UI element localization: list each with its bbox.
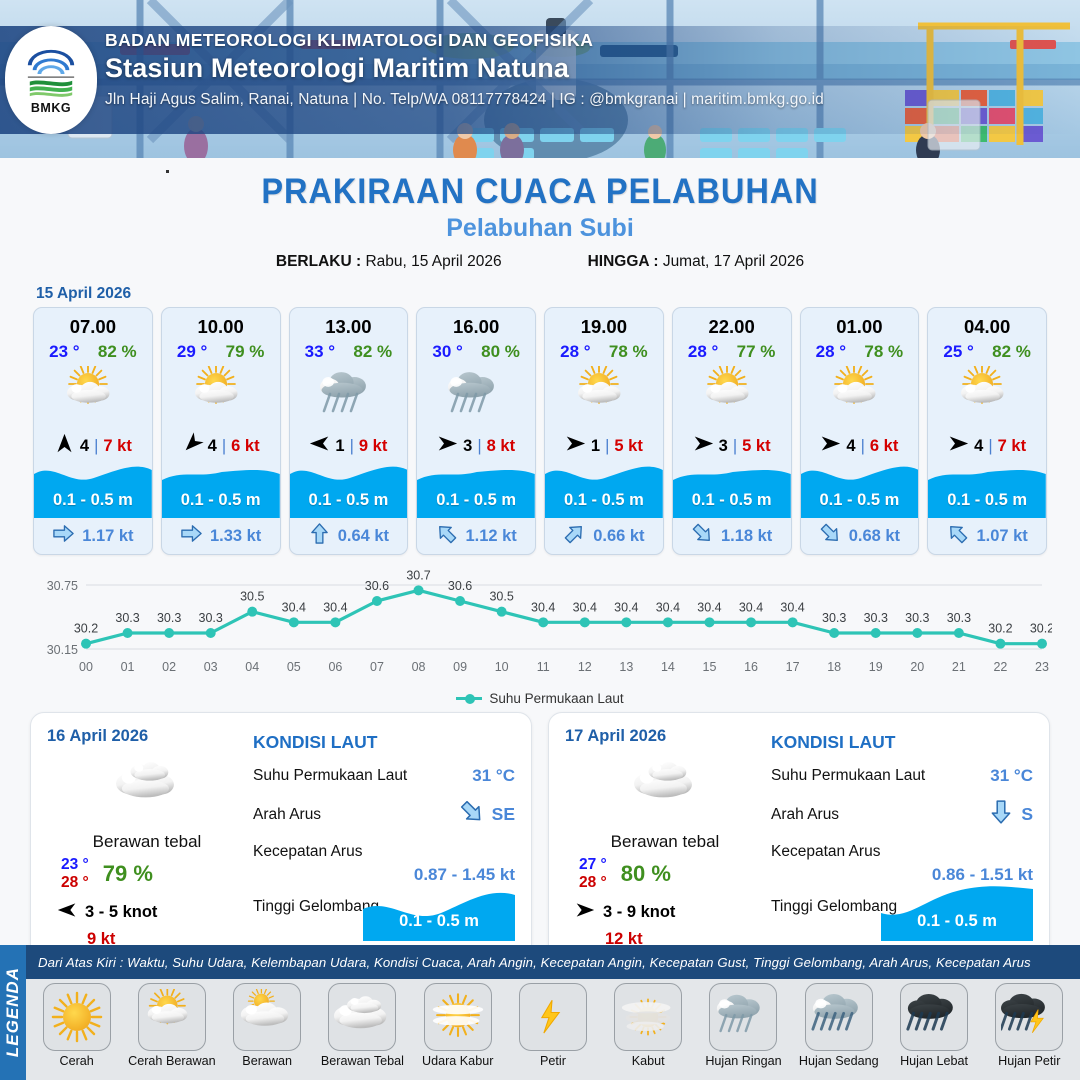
chart-legend: Suhu Permukaan Laut [0,691,1080,706]
card-wind-separator: | [350,437,354,456]
card-wind-arrow [948,433,969,459]
daily-forecast-panel[interactable]: 17 April 2026 Berawan tebal [548,712,1050,960]
current-direction-value: SE [492,804,515,825]
svg-text:21: 21 [952,660,966,674]
card-wave-band: 0.1 - 0.5 m [801,460,919,518]
sst-value: 31 °C [472,766,515,786]
legend-item-label: Berawan Tebal [321,1055,404,1069]
chart-legend-marker-icon [456,697,482,700]
card-humidity: 78 % [609,342,648,362]
card-current-speed: 1.07 kt [976,527,1027,546]
svg-text:30.75: 30.75 [47,579,78,593]
wave-height-value: 0.1 - 0.5 m [363,912,515,931]
current-direction-arrow-icon [942,517,975,550]
legend-item-label: Cerah Berawan [128,1055,216,1069]
card-wind-arrow [182,433,203,459]
weather-icon-kabut [620,989,676,1045]
legend-item-label: Hujan Sedang [799,1055,879,1069]
daily-temp-min: 23 ° [61,856,89,874]
valid-until: HINGGA : Jumat, 17 April 2026 [588,253,805,271]
card-current-speed: 1.33 kt [210,527,261,546]
weather-icon-hujan-sedang [811,989,867,1045]
daily-current-arrow [988,799,1014,830]
svg-text:23: 23 [1035,660,1049,674]
card-current-arrow [691,522,714,550]
svg-text:30.3: 30.3 [115,611,139,625]
svg-text:20: 20 [910,660,924,674]
svg-text:30.3: 30.3 [822,611,846,625]
weather-icon-berawan-tebal [334,989,390,1045]
legend-icon-box [328,983,396,1051]
card-time: 13.00 [290,316,408,338]
card-air-temperature: 28 ° [560,342,590,362]
svg-text:30.3: 30.3 [157,611,181,625]
card-wind-separator: | [988,437,992,456]
card-humidity: 82 % [353,342,392,362]
weather-icon-berawan [239,989,295,1045]
svg-text:06: 06 [328,660,342,674]
card-wave-band: 0.1 - 0.5 m [162,460,280,518]
svg-text:30.4: 30.4 [656,600,680,614]
current-direction-arrow-icon [814,517,847,550]
wind-direction-arrow-icon [820,433,841,454]
current-direction-label: Arah Arus [253,806,321,824]
svg-text:30.3: 30.3 [947,611,971,625]
wind-direction-arrow-icon [693,433,714,454]
weather-icon-hujan-ringan [446,366,506,426]
daily-date: 17 April 2026 [565,727,765,746]
svg-text:30.2: 30.2 [74,622,98,636]
daily-wind-range: 3 - 9 knot [603,903,675,922]
card-time: 22.00 [673,316,791,338]
current-direction-arrow-icon [180,522,203,545]
card-wave-height: 0.1 - 0.5 m [417,491,535,510]
card-current-speed: 1.17 kt [82,527,133,546]
weather-icon-cerah [49,989,105,1045]
card-wave-band: 0.1 - 0.5 m [417,460,535,518]
legend-icon-row: Cerah Cerah Berawan [26,979,1080,1080]
current-direction-arrow-icon [308,522,331,545]
weather-icon-berawan-tebal [634,754,696,816]
legend-item-label: Petir [540,1055,566,1069]
svg-text:30.5: 30.5 [489,590,513,604]
card-humidity: 78 % [864,342,903,362]
svg-text:30.3: 30.3 [905,611,929,625]
card-humidity: 80 % [481,342,520,362]
current-direction-arrow-icon [431,517,464,550]
legend-icon-box [900,983,968,1051]
hourly-forecast-card[interactable]: 19.00 28 ° 78 % 1 | 5 kt [544,307,664,555]
svg-text:30.4: 30.4 [739,600,763,614]
forecast-date-label: 15 April 2026 [36,285,1080,303]
wave-height-value: 0.1 - 0.5 m [881,912,1033,931]
card-wind-arrow [309,433,330,459]
card-wind-separator: | [733,437,737,456]
daily-condition: Berawan tebal [47,832,247,852]
svg-text:30.6: 30.6 [448,579,472,593]
wave-height-label: Tinggi Gelombang [253,898,379,916]
weather-icon-cerah-berawan [63,366,123,426]
legend-item: Petir [506,983,599,1069]
svg-text:30.7: 30.7 [406,568,430,582]
valid-until-value: Jumat, 17 April 2026 [663,253,804,270]
legend-item-label: Hujan Petir [998,1055,1060,1069]
current-direction-arrow-icon [988,799,1014,825]
legend-item: Cerah Berawan [125,983,218,1069]
current-speed-label: Kecepatan Arus [771,843,880,861]
weather-icon-hujan-lebat [906,989,962,1045]
wind-direction-arrow-icon [565,433,586,454]
legend-item: Hujan Lebat [887,983,980,1069]
card-gust-speed: 7 kt [998,437,1026,456]
daily-temp-min: 27 ° [579,856,607,874]
valid-from-label: BERLAKU : [276,253,361,270]
legend-icon-box [805,983,873,1051]
card-wind-speed: 4 [80,437,89,456]
hourly-forecast-card[interactable]: 01.00 28 ° 78 % 4 | 6 kt [800,307,920,555]
card-humidity: 82 % [98,342,137,362]
card-wind-separator: | [222,437,226,456]
wave-height-label: Tinggi Gelombang [771,898,897,916]
bmkg-logo-text: BMKG [31,101,71,115]
card-wind-separator: | [94,437,98,456]
svg-text:12: 12 [578,660,592,674]
hourly-forecast-card[interactable]: 07.00 23 ° 82 % 4 | 7 kt [33,307,153,555]
card-current-arrow [819,522,842,550]
svg-text:30.4: 30.4 [573,600,597,614]
svg-text:19: 19 [869,660,883,674]
agency-name: BADAN METEOROLOGI KLIMATOLOGI DAN GEOFIS… [105,30,1060,51]
card-wind-separator: | [605,437,609,456]
current-direction-arrow-icon [686,517,719,550]
card-weather-icon [162,365,280,427]
card-gust-speed: 6 kt [870,437,898,456]
daily-date: 16 April 2026 [47,727,247,746]
current-direction-arrow-icon [52,522,75,545]
card-time: 04.00 [928,316,1046,338]
daily-forecast-panel[interactable]: 16 April 2026 Berawan tebal [30,712,532,960]
svg-text:30.2: 30.2 [1030,622,1052,636]
sst-label: Suhu Permukaan Laut [771,767,925,785]
daily-temp-max: 28 ° [61,874,89,892]
svg-text:00: 00 [79,660,93,674]
legend-item: Hujan Ringan [697,983,790,1069]
svg-text:13: 13 [619,660,633,674]
weather-icon-cerah-berawan [702,366,762,426]
card-air-temperature: 29 ° [177,342,207,362]
daily-current-arrow [459,799,485,830]
card-weather-icon [417,365,535,427]
card-wave-height: 0.1 - 0.5 m [545,491,663,510]
weather-icon-petir [525,989,581,1045]
card-wind-speed: 1 [591,437,600,456]
card-wave-band: 0.1 - 0.5 m [290,460,408,518]
wave-shape-icon [363,879,515,941]
svg-text:07: 07 [370,660,384,674]
svg-text:30.15: 30.15 [47,643,78,657]
card-current-speed: 0.68 kt [849,527,900,546]
weather-icon-cerah-berawan [957,366,1017,426]
card-humidity: 82 % [992,342,1031,362]
card-wind-speed: 3 [719,437,728,456]
hourly-forecast-card[interactable]: 10.00 29 ° 79 % 4 | 6 kt [161,307,281,555]
card-air-temperature: 33 ° [305,342,335,362]
weather-icon-cerah-berawan [191,366,251,426]
card-air-temperature: 28 ° [688,342,718,362]
legend-item: Cerah [30,983,123,1069]
svg-text:30.4: 30.4 [614,600,638,614]
weather-icon-cerah-berawan [574,366,634,426]
card-current-arrow [308,522,331,550]
hourly-forecast-card[interactable]: 22.00 28 ° 77 % 3 | 5 kt [672,307,792,555]
card-wind-arrow [820,433,841,459]
card-humidity: 77 % [737,342,776,362]
card-wave-height: 0.1 - 0.5 m [673,491,791,510]
card-gust-speed: 8 kt [487,437,515,456]
current-speed-label: Kecepatan Arus [253,843,362,861]
card-gust-speed: 9 kt [359,437,387,456]
hourly-forecast-card[interactable]: 16.00 30 ° 80 % 3 | 8 kt [416,307,536,555]
legend-icon-box [424,983,492,1051]
legend-item: Hujan Petir [983,983,1076,1069]
svg-text:11: 11 [537,660,550,674]
sst-value: 31 °C [990,766,1033,786]
card-air-temperature: 30 ° [432,342,462,362]
svg-text:09: 09 [453,660,467,674]
daily-weather-icon [47,754,247,816]
current-direction-arrow-icon [558,517,591,550]
svg-text:30.3: 30.3 [864,611,888,625]
legend-item-label: Hujan Lebat [900,1055,968,1069]
card-current-speed: 1.18 kt [721,527,772,546]
legend-item-label: Cerah [59,1055,93,1069]
card-wind-speed: 3 [463,437,472,456]
svg-text:30.4: 30.4 [780,600,804,614]
sea-condition-title: KONDISI LAUT [253,732,515,753]
weather-icon-udara-kabur [430,989,486,1045]
svg-text:14: 14 [661,660,675,674]
wave-shape-icon [881,879,1033,941]
svg-text:10: 10 [495,660,509,674]
legend-item-label: Kabut [632,1055,665,1069]
legend-icon-box [995,983,1063,1051]
card-current-arrow [946,522,969,550]
svg-text:17: 17 [786,660,800,674]
svg-text:30.4: 30.4 [697,600,721,614]
card-time: 01.00 [801,316,919,338]
card-current-arrow [180,522,203,550]
card-wind-speed: 4 [846,437,855,456]
card-wave-band: 0.1 - 0.5 m [673,460,791,518]
svg-text:03: 03 [204,660,218,674]
card-time: 16.00 [417,316,535,338]
card-current-speed: 1.12 kt [465,527,516,546]
card-weather-icon [545,365,663,427]
hourly-forecast-card[interactable]: 13.00 33 ° 82 % 1 | 9 kt [289,307,409,555]
wind-direction-arrow-icon [437,433,458,454]
svg-text:30.4: 30.4 [282,600,306,614]
svg-text:30.3: 30.3 [199,611,223,625]
weather-icon-hujan-ringan [318,366,378,426]
card-current-speed: 0.64 kt [338,527,389,546]
current-direction-label: Arah Arus [771,806,839,824]
card-current-arrow [563,522,586,550]
card-wave-height: 0.1 - 0.5 m [928,491,1046,510]
card-wind-separator: | [477,437,481,456]
legend-icon-box [233,983,301,1051]
svg-text:02: 02 [162,660,176,674]
wind-direction-arrow-icon [177,429,207,459]
valid-until-label: HINGGA : [588,253,659,270]
card-wave-height: 0.1 - 0.5 m [801,491,919,510]
valid-from: BERLAKU : Rabu, 15 April 2026 [276,253,502,271]
card-wave-height: 0.1 - 0.5 m [162,491,280,510]
sst-chart-canvas: 30.7530.1530.20030.30130.30230.30330.504… [28,567,1052,687]
legend-item-label: Udara Kabur [422,1055,493,1069]
legenda-label: LEGENDA [3,967,23,1057]
hourly-forecast-row: 07.00 23 ° 82 % 4 | 7 kt [0,307,1080,555]
daily-wind-arrow [575,900,595,925]
weather-icon-cerah-berawan [144,989,200,1045]
daily-wave-graphic: 0.1 - 0.5 m [363,879,515,941]
legend-icon-box [709,983,777,1051]
svg-text:22: 22 [993,660,1007,674]
svg-text:30.4: 30.4 [531,600,555,614]
card-time: 19.00 [545,316,663,338]
card-wind-separator: | [861,437,865,456]
sst-chart: 30.7530.1530.20030.30130.30230.30330.504… [28,567,1052,687]
current-direction-value: S [1021,804,1033,825]
title-block: PRAKIRAAN CUACA PELABUHAN Pelabuhan Subi… [0,158,1080,271]
legend-icon-box [614,983,682,1051]
card-wave-height: 0.1 - 0.5 m [34,491,152,510]
card-wave-band: 0.1 - 0.5 m [34,460,152,518]
legend-item: Udara Kabur [411,983,504,1069]
daily-weather-icon [565,754,765,816]
card-weather-icon [34,365,152,427]
hourly-forecast-card[interactable]: 04.00 25 ° 82 % 4 | 7 kt [927,307,1047,555]
card-wind-arrow [693,433,714,459]
svg-text:08: 08 [412,660,426,674]
contact-info: Jln Haji Agus Salim, Ranai, Natuna | No.… [105,91,1060,109]
weather-icon-hujan-ringan [715,989,771,1045]
card-wind-speed: 4 [208,437,217,456]
daily-humidity: 79 % [103,861,153,887]
svg-text:16: 16 [744,660,758,674]
card-wind-speed: 1 [335,437,344,456]
wind-direction-arrow-icon [309,433,330,454]
card-humidity: 79 % [226,342,265,362]
legend-icon-box [519,983,587,1051]
svg-text:30.6: 30.6 [365,579,389,593]
daily-forecast-row: 16 April 2026 Berawan tebal [0,706,1080,960]
card-wave-band: 0.1 - 0.5 m [545,460,663,518]
svg-text:30.4: 30.4 [323,600,347,614]
chart-legend-label: Suhu Permukaan Laut [489,691,623,706]
daily-wind-arrow [57,900,77,925]
svg-text:05: 05 [287,660,301,674]
legend-icon-box [138,983,206,1051]
svg-text:04: 04 [245,660,259,674]
daily-wind-range: 3 - 5 knot [85,903,157,922]
card-current-arrow [52,522,75,550]
port-name: Pelabuhan Subi [0,214,1080,243]
card-weather-icon [290,365,408,427]
svg-text:30.2: 30.2 [988,622,1012,636]
svg-text:30.5: 30.5 [240,590,264,604]
card-weather-icon [673,365,791,427]
card-wind-arrow [565,433,586,459]
current-direction-arrow-icon [453,794,490,831]
legend-item-label: Berawan [242,1055,292,1069]
weather-icon-cerah-berawan [829,366,889,426]
card-gust-speed: 6 kt [231,437,259,456]
valid-from-value: Rabu, 15 April 2026 [365,253,501,270]
card-wind-speed: 4 [974,437,983,456]
card-air-temperature: 28 ° [816,342,846,362]
daily-condition: Berawan tebal [565,832,765,852]
card-gust-speed: 7 kt [103,437,131,456]
daily-wave-graphic: 0.1 - 0.5 m [881,879,1033,941]
card-wave-band: 0.1 - 0.5 m [928,460,1046,518]
card-wave-height: 0.1 - 0.5 m [290,491,408,510]
card-gust-speed: 5 kt [614,437,642,456]
legend-note: Dari Atas Kiri : Waktu, Suhu Udara, Kele… [26,945,1080,979]
card-time: 07.00 [34,316,152,338]
legend-item: Hujan Sedang [792,983,885,1069]
legend-footer: LEGENDA Dari Atas Kiri : Waktu, Suhu Uda… [0,945,1080,1080]
wind-direction-arrow-icon [575,900,595,920]
sst-label: Suhu Permukaan Laut [253,767,407,785]
svg-text:18: 18 [827,660,841,674]
wind-direction-arrow-icon [948,433,969,454]
legend-item-label: Hujan Ringan [705,1055,781,1069]
card-gust-speed: 5 kt [742,437,770,456]
card-wind-arrow [54,433,75,459]
card-time: 10.00 [162,316,280,338]
legend-item: Berawan [221,983,314,1069]
legend-icon-box [43,983,111,1051]
bmkg-logo: BMKG [5,26,97,134]
svg-text:15: 15 [703,660,717,674]
weather-icon-berawan-tebal [116,754,178,816]
card-current-arrow [435,522,458,550]
card-current-speed: 0.66 kt [593,527,644,546]
legenda-sidebar: LEGENDA [0,945,26,1080]
card-weather-icon [801,365,919,427]
legend-item: Kabut [602,983,695,1069]
station-name: Stasiun Meteorologi Maritim Natuna [105,53,1060,84]
daily-humidity: 80 % [621,861,671,887]
weather-icon-hujan-petir [1001,989,1057,1045]
wind-direction-arrow-icon [57,900,77,920]
page-header: BMKG BADAN METEOROLOGI KLIMATOLOGI DAN G… [0,0,1080,158]
card-weather-icon [928,365,1046,427]
wind-direction-arrow-icon [54,433,75,454]
svg-text:01: 01 [121,660,135,674]
card-air-temperature: 23 ° [49,342,79,362]
daily-temp-max: 28 ° [579,874,607,892]
card-wind-arrow [437,433,458,459]
legend-item: Berawan Tebal [316,983,409,1069]
page-title: PRAKIRAAN CUACA PELABUHAN [38,172,1042,212]
card-air-temperature: 25 ° [943,342,973,362]
bmkg-emblem-icon [22,46,80,100]
sea-condition-title: KONDISI LAUT [771,732,1033,753]
